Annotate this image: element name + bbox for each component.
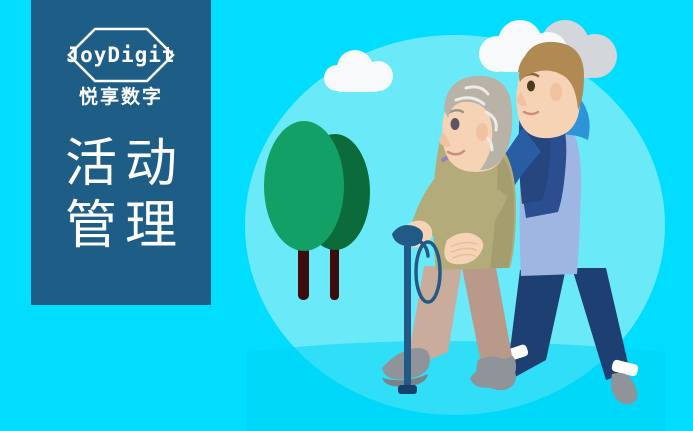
woman-ear — [476, 123, 488, 141]
logo: JoyDigit — [46, 26, 196, 84]
man-eye — [527, 81, 535, 92]
logo-subtitle: 悦享数字 — [79, 88, 163, 107]
page-title-line-2: 管理 — [57, 195, 185, 257]
brand-panel: JoyDigit 悦享数字 活动 管理 — [31, 0, 211, 305]
logo-wordmark: JoyDigit — [66, 43, 175, 67]
poster-canvas: JoyDigit 悦享数字 活动 管理 — [0, 0, 693, 431]
woman-eye — [451, 118, 460, 130]
man-ear — [550, 83, 562, 101]
page-title-line-1: 活动 — [57, 133, 185, 195]
page-title: 活动 管理 — [57, 133, 185, 257]
